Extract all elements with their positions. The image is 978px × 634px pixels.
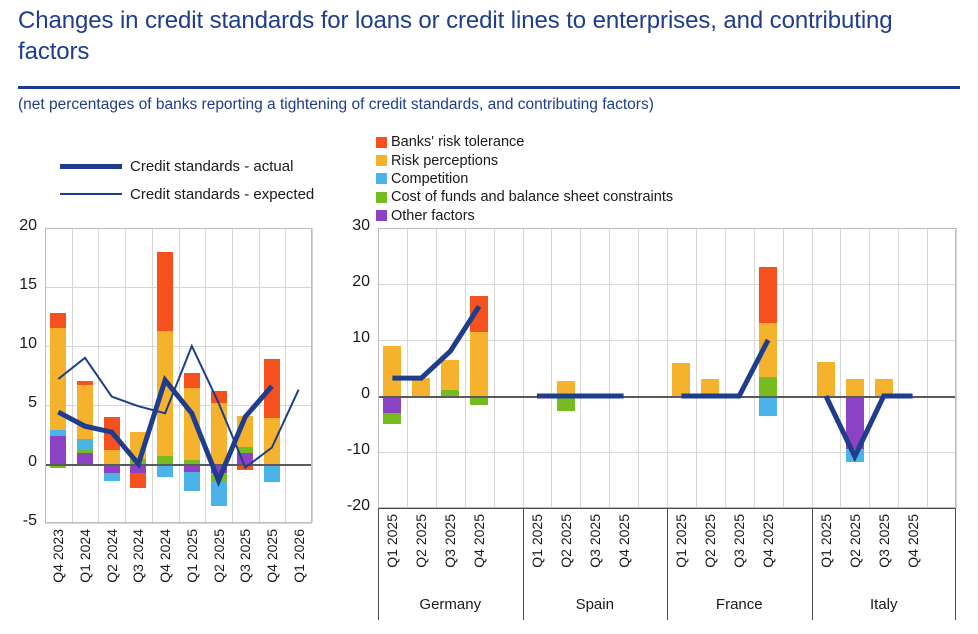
y-axis-tick-label: -20 [330,497,370,515]
group-label: Spain [523,596,668,613]
x-axis-tick-label: Q1 2025 [529,514,545,568]
group-label: Germany [378,596,523,613]
y-axis-tick-label: 30 [330,217,370,235]
x-axis-tick-label: Q1 2025 [384,514,400,568]
x-axis-line [378,508,956,509]
x-axis-tick-label: Q2 2025 [413,514,429,568]
line-actual-germany [392,306,479,378]
x-axis-tick-label: Q3 2025 [442,514,458,568]
line-actual-france [681,340,768,396]
x-axis-tick-label: Q4 2025 [616,514,632,568]
group-label: France [667,596,812,613]
y-axis-tick-label: -10 [330,441,370,459]
y-axis-tick-label: 20 [330,273,370,291]
line-actual-italy [826,396,913,457]
x-axis-tick-label: Q4 2025 [760,514,776,568]
x-axis-tick-label: Q2 2025 [558,514,574,568]
x-axis-tick-label: Q4 2025 [905,514,921,568]
chart-countries: -20-100102030Q1 2025Q2 2025Q3 2025Q4 202… [0,0,978,634]
x-axis-tick-label: Q2 2025 [847,514,863,568]
x-axis-tick-label: Q1 2025 [673,514,689,568]
x-axis-tick-label: Q4 2025 [471,514,487,568]
x-axis-tick-label: Q3 2025 [876,514,892,568]
x-axis-tick-label: Q3 2025 [587,514,603,568]
x-axis-tick-label: Q2 2025 [702,514,718,568]
x-axis-tick-label: Q1 2025 [818,514,834,568]
plot-area-countries [378,228,956,508]
group-label: Italy [812,596,957,613]
vertical-gridline [956,228,957,508]
y-axis-tick-label: 0 [330,385,370,403]
y-axis-tick-label: 10 [330,329,370,347]
x-axis-tick-label: Q3 2025 [731,514,747,568]
series-lines [378,228,956,508]
